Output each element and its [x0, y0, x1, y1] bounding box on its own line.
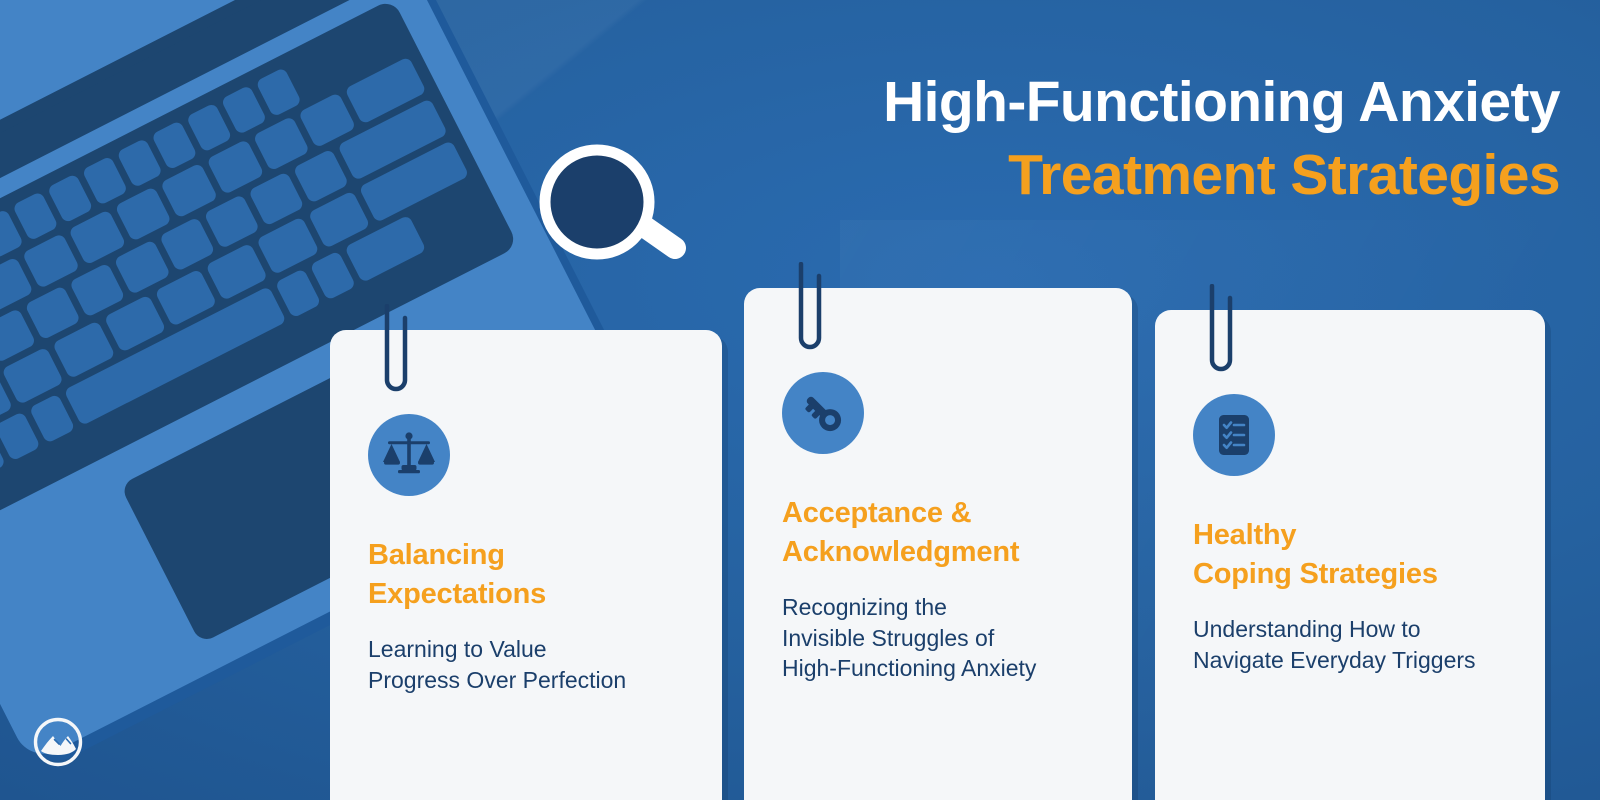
- paperclip-icon: [792, 262, 826, 358]
- card-description: Understanding How to Navigate Everyday T…: [1193, 614, 1523, 675]
- headline-line-2: Treatment Strategies: [620, 147, 1560, 204]
- key-icon: [782, 372, 864, 454]
- strategy-card-acceptance-acknowledgment[interactable]: Acceptance & Acknowledgment Recognizing …: [744, 288, 1132, 800]
- headline-line-1: High-Functioning Anxiety: [620, 74, 1560, 131]
- card-description: Recognizing the Invisible Struggles of H…: [782, 592, 1110, 684]
- strategy-card-healthy-coping-strategies[interactable]: Healthy Coping Strategies Understanding …: [1155, 310, 1545, 800]
- mountain-circle-logo[interactable]: [32, 716, 84, 768]
- card-title: Acceptance & Acknowledgment: [782, 494, 1110, 571]
- page-title: High-Functioning Anxiety Treatment Strat…: [620, 74, 1560, 204]
- card-content: Balancing Expectations Learning to Value…: [368, 414, 700, 695]
- card-title: Balancing Expectations: [368, 536, 700, 613]
- card-title: Healthy Coping Strategies: [1193, 516, 1523, 593]
- card-description: Learning to Value Progress Over Perfecti…: [368, 634, 700, 695]
- paperclip-icon: [378, 304, 412, 400]
- card-content: Healthy Coping Strategies Understanding …: [1193, 394, 1523, 675]
- strategy-card-balancing-expectations[interactable]: Balancing Expectations Learning to Value…: [330, 330, 722, 800]
- scales-balance-icon: [368, 414, 450, 496]
- paperclip-icon: [1203, 284, 1237, 380]
- keyboard-key: [255, 67, 302, 117]
- card-content: Acceptance & Acknowledgment Recognizing …: [782, 372, 1110, 684]
- clipboard-checklist-icon: [1193, 394, 1275, 476]
- infographic-canvas: High-Functioning Anxiety Treatment Strat…: [0, 0, 1600, 800]
